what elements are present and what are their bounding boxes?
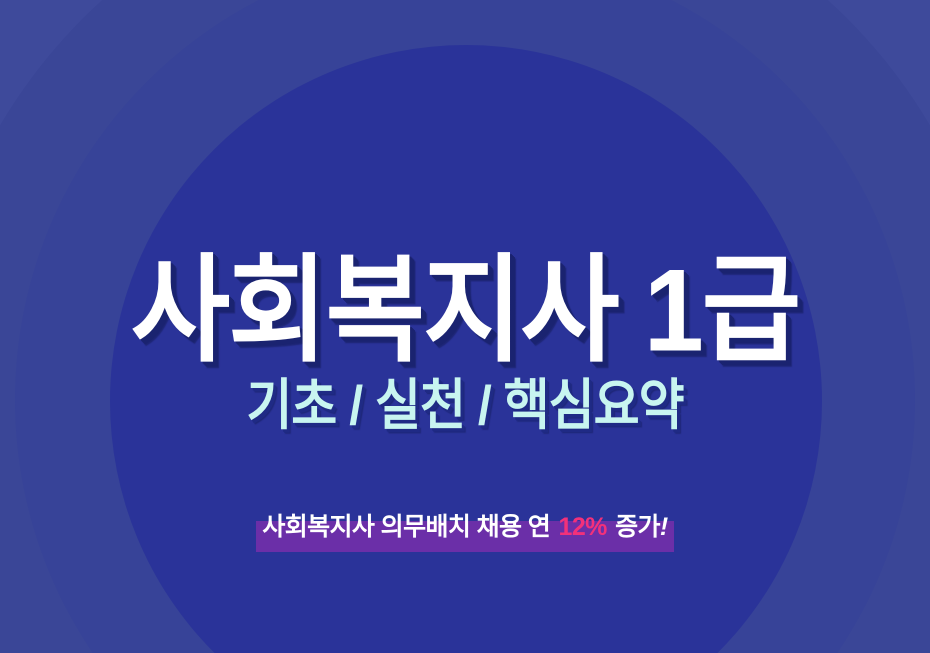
tagline-suffix: 증가 [609,513,660,541]
main-title-grade: 1급 [644,244,799,375]
tagline-block: 사회복지사 의무배치 채용 연 12% 증가! [0,512,930,546]
banner-content: 사회복지사1급 기초 / 실천 / 핵심요약 사회복지사 의무배치 채용 연 1… [0,0,930,653]
tagline-exclamation: ! [660,513,668,541]
promo-banner: 사회복지사1급 기초 / 실천 / 핵심요약 사회복지사 의무배치 채용 연 1… [0,0,930,653]
main-title: 사회복지사1급 [131,252,799,369]
main-title-block: 사회복지사1급 [0,252,930,360]
subtitle-block: 기초 / 실천 / 핵심요약 [0,378,930,428]
tagline-percent-value: 12% [557,513,609,541]
subtitle-text: 기초 / 실천 / 핵심요약 [246,378,683,433]
tagline-prefix: 사회복지사 의무배치 채용 연 [262,513,556,541]
tagline: 사회복지사 의무배치 채용 연 12% 증가! [256,512,673,546]
main-title-subject: 사회복지사 [131,244,618,375]
